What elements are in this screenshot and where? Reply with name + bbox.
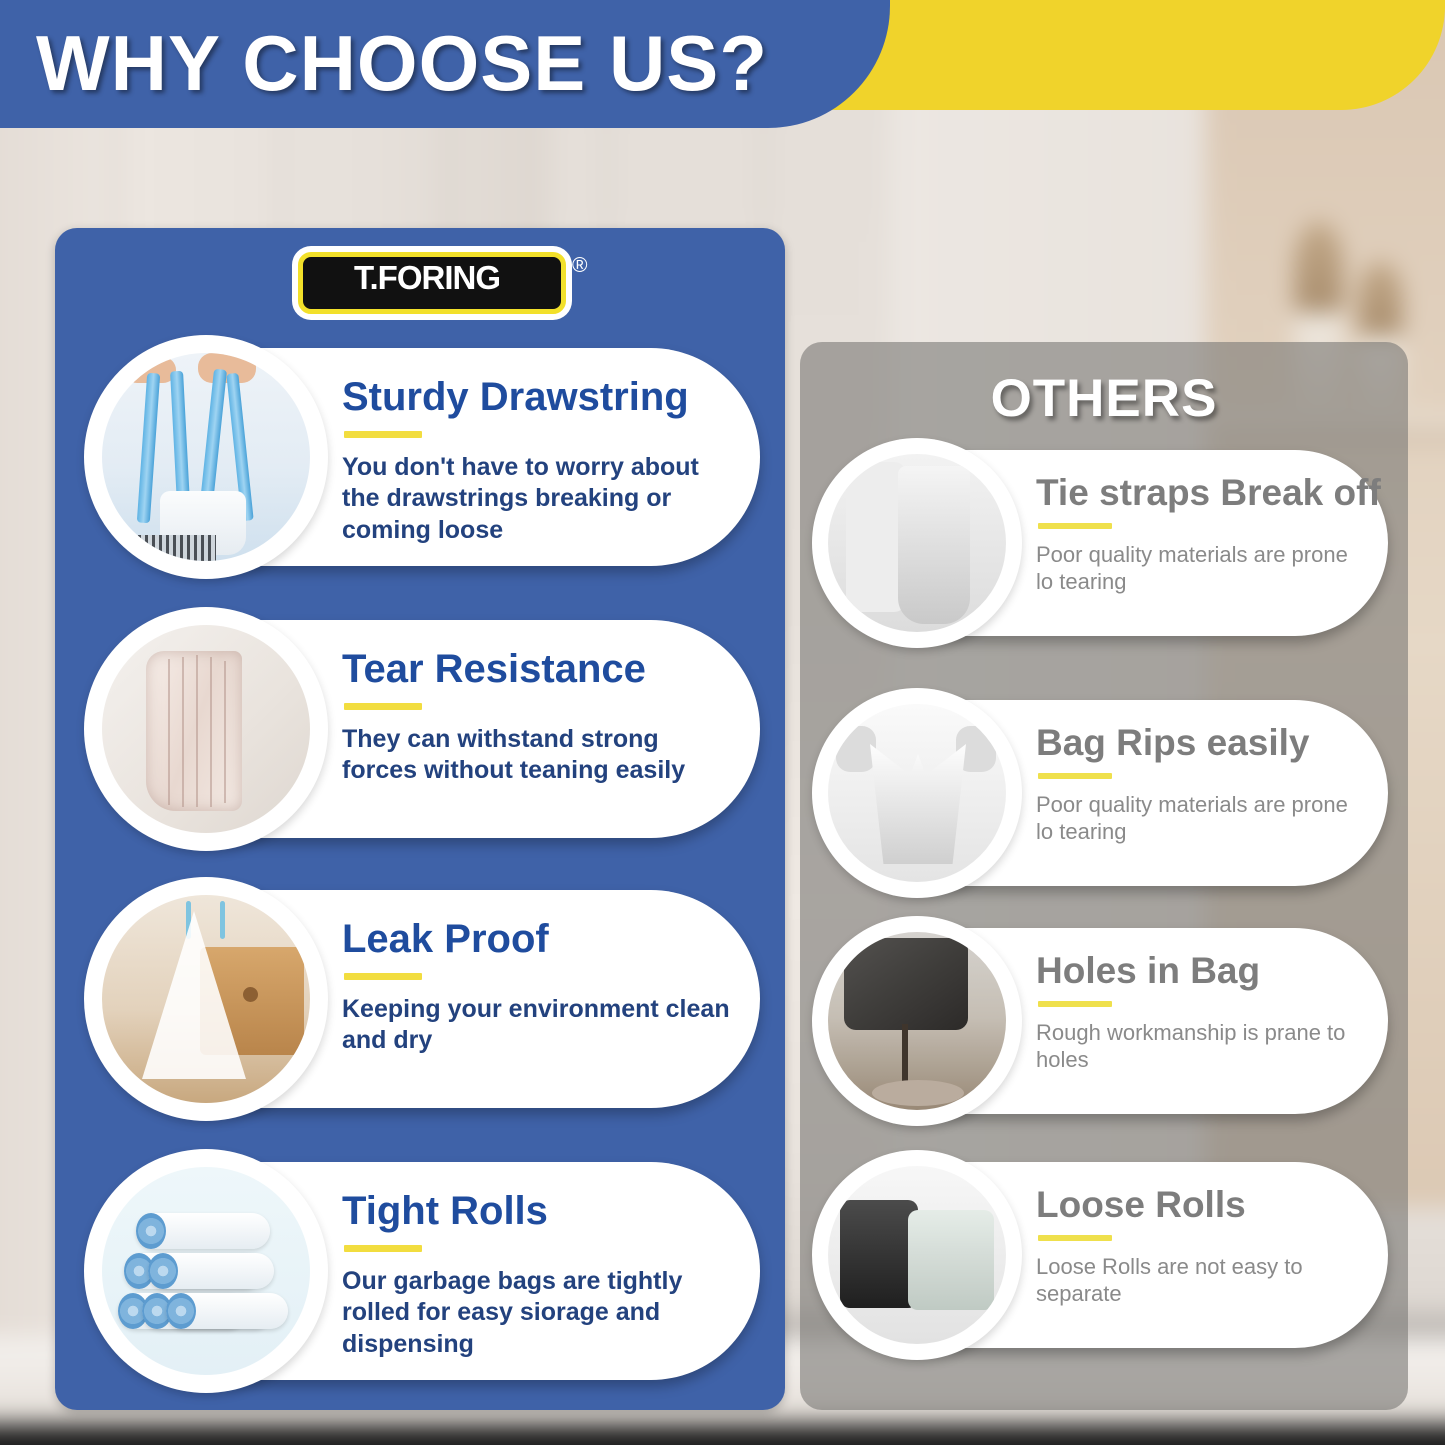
- feature-image-sturdy-drawstring: [102, 353, 310, 561]
- feature-image-circle: [84, 607, 328, 851]
- others-description: Poor quality materials are prone lo tear…: [1036, 791, 1370, 846]
- others-image-loose-rolls: [828, 1166, 1006, 1344]
- title-underline-rule: [344, 703, 422, 710]
- feature-card[interactable]: Leak Proof Keeping your environment clea…: [100, 890, 760, 1108]
- others-card[interactable]: Holes in Bag Rough workmanship is prane …: [828, 928, 1388, 1114]
- others-card[interactable]: Loose Rolls Loose Rolls are not easy to …: [828, 1162, 1388, 1348]
- feature-description: You don't have to worry about the drawst…: [342, 452, 734, 546]
- others-title: Tie straps Break off: [1036, 474, 1370, 513]
- others-image-circle: [812, 688, 1022, 898]
- feature-card[interactable]: Sturdy Drawstring You don't have to worr…: [100, 348, 760, 566]
- feature-title: Tear Resistance: [342, 648, 734, 690]
- title-underline-rule: [1038, 523, 1112, 529]
- feature-title: Sturdy Drawstring: [342, 376, 734, 418]
- header-banner: WHY CHOOSE US?: [0, 0, 890, 128]
- feature-title: Leak Proof: [342, 918, 734, 960]
- title-underline-rule: [1038, 773, 1112, 779]
- others-heading: OTHERS: [800, 368, 1408, 429]
- others-image-circle: [812, 1150, 1022, 1360]
- others-card[interactable]: Tie straps Break off Poor quality materi…: [828, 450, 1388, 636]
- others-description: Rough workmanship is prane to holes: [1036, 1019, 1370, 1074]
- others-image-tie-straps-break-off: [828, 454, 1006, 632]
- feature-description: Keeping your environment clean and dry: [342, 994, 734, 1057]
- logo-text: T.FORING: [298, 252, 556, 304]
- title-underline-rule: [1038, 1001, 1112, 1007]
- others-title: Bag Rips easily: [1036, 724, 1370, 763]
- others-image-bag-rips-easily: [828, 704, 1006, 882]
- background-counter-edge: [0, 1424, 1445, 1445]
- others-description: Poor quality materials are prone lo tear…: [1036, 541, 1370, 596]
- feature-image-circle: [84, 335, 328, 579]
- others-title: Loose Rolls: [1036, 1186, 1370, 1225]
- feature-image-tear-resistance: [102, 625, 310, 833]
- title-underline-rule: [344, 1245, 422, 1252]
- feature-image-leak-proof: [102, 895, 310, 1103]
- feature-description: Our garbage bags are tightly rolled for …: [342, 1266, 734, 1360]
- title-underline-rule: [1038, 1235, 1112, 1241]
- feature-card[interactable]: Tear Resistance They can withstand stron…: [100, 620, 760, 838]
- others-card[interactable]: Bag Rips easily Poor quality materials a…: [828, 700, 1388, 886]
- feature-card[interactable]: Tight Rolls Our garbage bags are tightly…: [100, 1162, 760, 1380]
- page-title: WHY CHOOSE US?: [36, 18, 768, 109]
- others-image-circle: [812, 916, 1022, 1126]
- title-underline-rule: [344, 973, 422, 980]
- registered-trademark-icon: ®: [572, 254, 587, 278]
- feature-description: They can withstand strong forces without…: [342, 724, 734, 787]
- feature-image-circle: [84, 1149, 328, 1393]
- others-image-holes-in-bag: [828, 932, 1006, 1110]
- others-image-circle: [812, 438, 1022, 648]
- others-title: Holes in Bag: [1036, 952, 1370, 991]
- feature-image-circle: [84, 877, 328, 1121]
- feature-title: Tight Rolls: [342, 1190, 734, 1232]
- brand-logo: T.FORING ®: [290, 246, 590, 312]
- feature-image-tight-rolls: [102, 1167, 310, 1375]
- others-description: Loose Rolls are not easy to separate: [1036, 1253, 1370, 1308]
- title-underline-rule: [344, 431, 422, 438]
